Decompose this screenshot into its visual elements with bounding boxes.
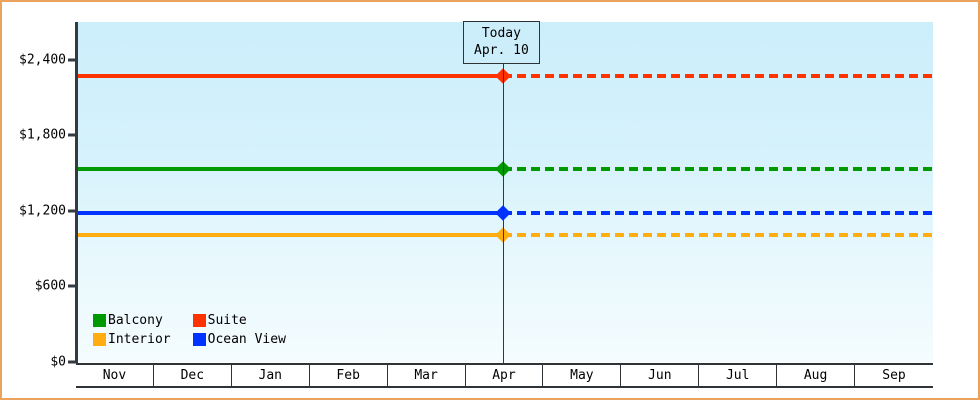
y-axis-tick-label: $1,200 (19, 203, 66, 218)
x-axis-month-cell[interactable]: Aug (777, 365, 855, 386)
y-axis-tick-mark (68, 285, 76, 288)
x-axis-month-cell[interactable]: Sep (855, 365, 933, 386)
legend-label: Interior (108, 332, 171, 347)
today-callout-line1: Today (474, 25, 529, 42)
chart-legend: BalconySuiteInteriorOcean View (93, 313, 286, 347)
x-axis-month-cell[interactable]: May (543, 365, 621, 386)
x-axis-month-cell[interactable]: Jul (699, 365, 777, 386)
legend-label: Balcony (108, 313, 163, 328)
y-axis-labels: $0$600$1,200$1,800$2,400 (2, 2, 66, 400)
legend-item[interactable]: Interior (93, 332, 171, 347)
today-callout-line2: Apr. 10 (474, 42, 529, 59)
y-axis-tick-mark (68, 209, 76, 212)
series-line-forecast (503, 74, 933, 78)
x-axis-month-cell[interactable]: Mar (388, 365, 466, 386)
x-axis-month-cell[interactable]: Apr (466, 365, 544, 386)
y-axis-tick-mark (68, 134, 76, 137)
series-line-historical (78, 211, 503, 215)
legend-item[interactable]: Balcony (93, 313, 171, 328)
series-line-forecast (503, 233, 933, 237)
series-line-historical (78, 233, 503, 237)
legend-item[interactable]: Suite (193, 313, 286, 328)
x-axis-month-cell[interactable]: Dec (154, 365, 232, 386)
y-axis-line (75, 22, 78, 363)
legend-color-swatch-icon (93, 333, 106, 346)
x-axis-month-cell[interactable]: Jun (621, 365, 699, 386)
y-axis-tick-label: $1,800 (19, 128, 66, 143)
legend-color-swatch-icon (193, 333, 206, 346)
legend-item[interactable]: Ocean View (193, 332, 286, 347)
today-vertical-line (503, 22, 504, 363)
y-axis-tick-label: $2,400 (19, 52, 66, 67)
y-axis-tick-mark (68, 58, 76, 61)
y-axis-tick-label: $0 (50, 355, 66, 370)
x-axis-months: NovDecJanFebMarAprMayJunJulAugSep (76, 363, 933, 388)
series-line-forecast (503, 211, 933, 215)
series-line-historical (78, 167, 503, 171)
y-axis-tick-label: $600 (35, 279, 66, 294)
y-axis-tick-mark (68, 361, 76, 364)
x-axis-month-cell[interactable]: Nov (76, 365, 154, 386)
price-trend-chart: $0$600$1,200$1,800$2,400 Today Apr. 10 B… (0, 0, 980, 400)
legend-color-swatch-icon (93, 314, 106, 327)
today-callout-box: Today Apr. 10 (463, 21, 540, 64)
x-axis-month-cell[interactable]: Jan (232, 365, 310, 386)
legend-label: Ocean View (208, 332, 286, 347)
legend-color-swatch-icon (193, 314, 206, 327)
series-line-historical (78, 74, 503, 78)
series-line-forecast (503, 167, 933, 171)
x-axis-month-cell[interactable]: Feb (310, 365, 388, 386)
legend-label: Suite (208, 313, 247, 328)
